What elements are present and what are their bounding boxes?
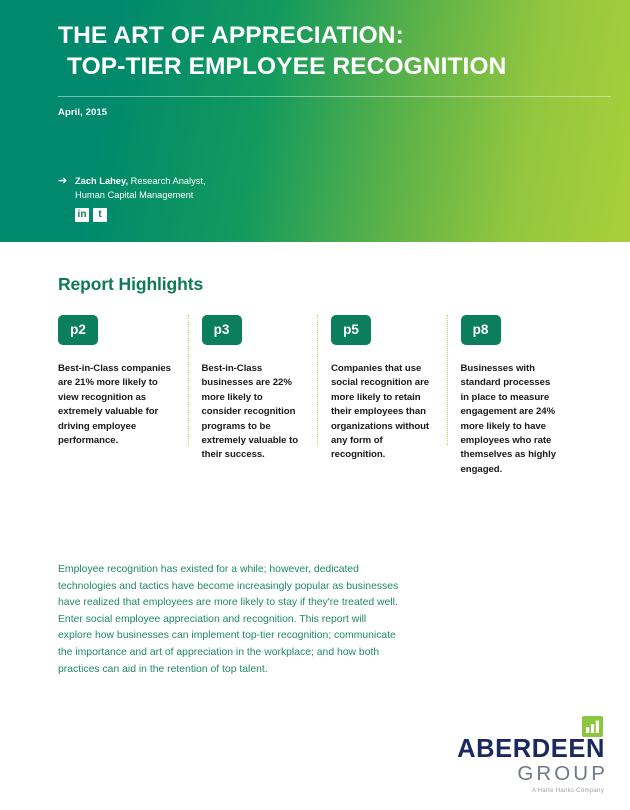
arrow-right-icon: ➔ [58, 176, 67, 187]
page-title: THE ART OF APPRECIATION: TOP-TIER EMPLOY… [58, 20, 598, 82]
twitter-icon[interactable]: t [93, 208, 107, 222]
page-badge-p8[interactable]: p8 [461, 315, 501, 345]
report-header-banner: THE ART OF APPRECIATION: TOP-TIER EMPLOY… [0, 0, 630, 242]
highlight-text-4: Businesses with standard processes in pl… [461, 362, 561, 477]
publication-date: April, 2015 [58, 107, 107, 118]
header-divider-rule [58, 96, 611, 97]
logo-wordmark-group: GROUP [455, 763, 608, 784]
bar-chart-icon [582, 716, 603, 737]
author-department: Human Capital Management [75, 190, 193, 200]
social-links: in t [75, 208, 107, 222]
page-badge-p3[interactable]: p3 [202, 315, 242, 345]
author-name: Zach Lahey, [75, 176, 128, 186]
author-block: ➔ Zach Lahey, Research Analyst, Human Ca… [58, 175, 378, 202]
logo-wordmark-aberdeen: ABERDEEN [455, 736, 605, 762]
highlight-text-2: Best-in-Class businesses are 22% more li… [202, 362, 302, 463]
page-badge-p5[interactable]: p5 [331, 315, 371, 345]
author-lines: Zach Lahey, Research Analyst, Human Capi… [75, 175, 378, 202]
report-highlights-row: p2 Best-in-Class companies are 21% more … [58, 315, 576, 477]
highlight-column-3: p5 Companies that use social recognition… [317, 315, 447, 477]
linkedin-icon[interactable]: in [75, 208, 89, 222]
author-role: Research Analyst, [128, 176, 206, 186]
aberdeen-group-logo: ABERDEEN GROUP A Harte Hanks Company [455, 719, 605, 794]
page-title-line-2: TOP-TIER EMPLOYEE RECOGNITION [67, 51, 598, 82]
page-badge-p2[interactable]: p2 [58, 315, 98, 345]
highlight-column-1: p2 Best-in-Class companies are 21% more … [58, 315, 188, 477]
report-highlights-heading: Report Highlights [58, 274, 203, 295]
page-title-line-1: THE ART OF APPRECIATION: [58, 20, 598, 51]
logo-tagline: A Harte Hanks Company [455, 787, 604, 794]
highlight-column-4: p8 Businesses with standard processes in… [447, 315, 577, 477]
highlight-text-3: Companies that use social recognition ar… [331, 362, 431, 463]
intro-paragraph: Employee recognition has existed for a w… [58, 562, 403, 678]
highlight-column-2: p3 Best-in-Class businesses are 22% more… [188, 315, 318, 477]
highlight-text-1: Best-in-Class companies are 21% more lik… [58, 362, 172, 448]
